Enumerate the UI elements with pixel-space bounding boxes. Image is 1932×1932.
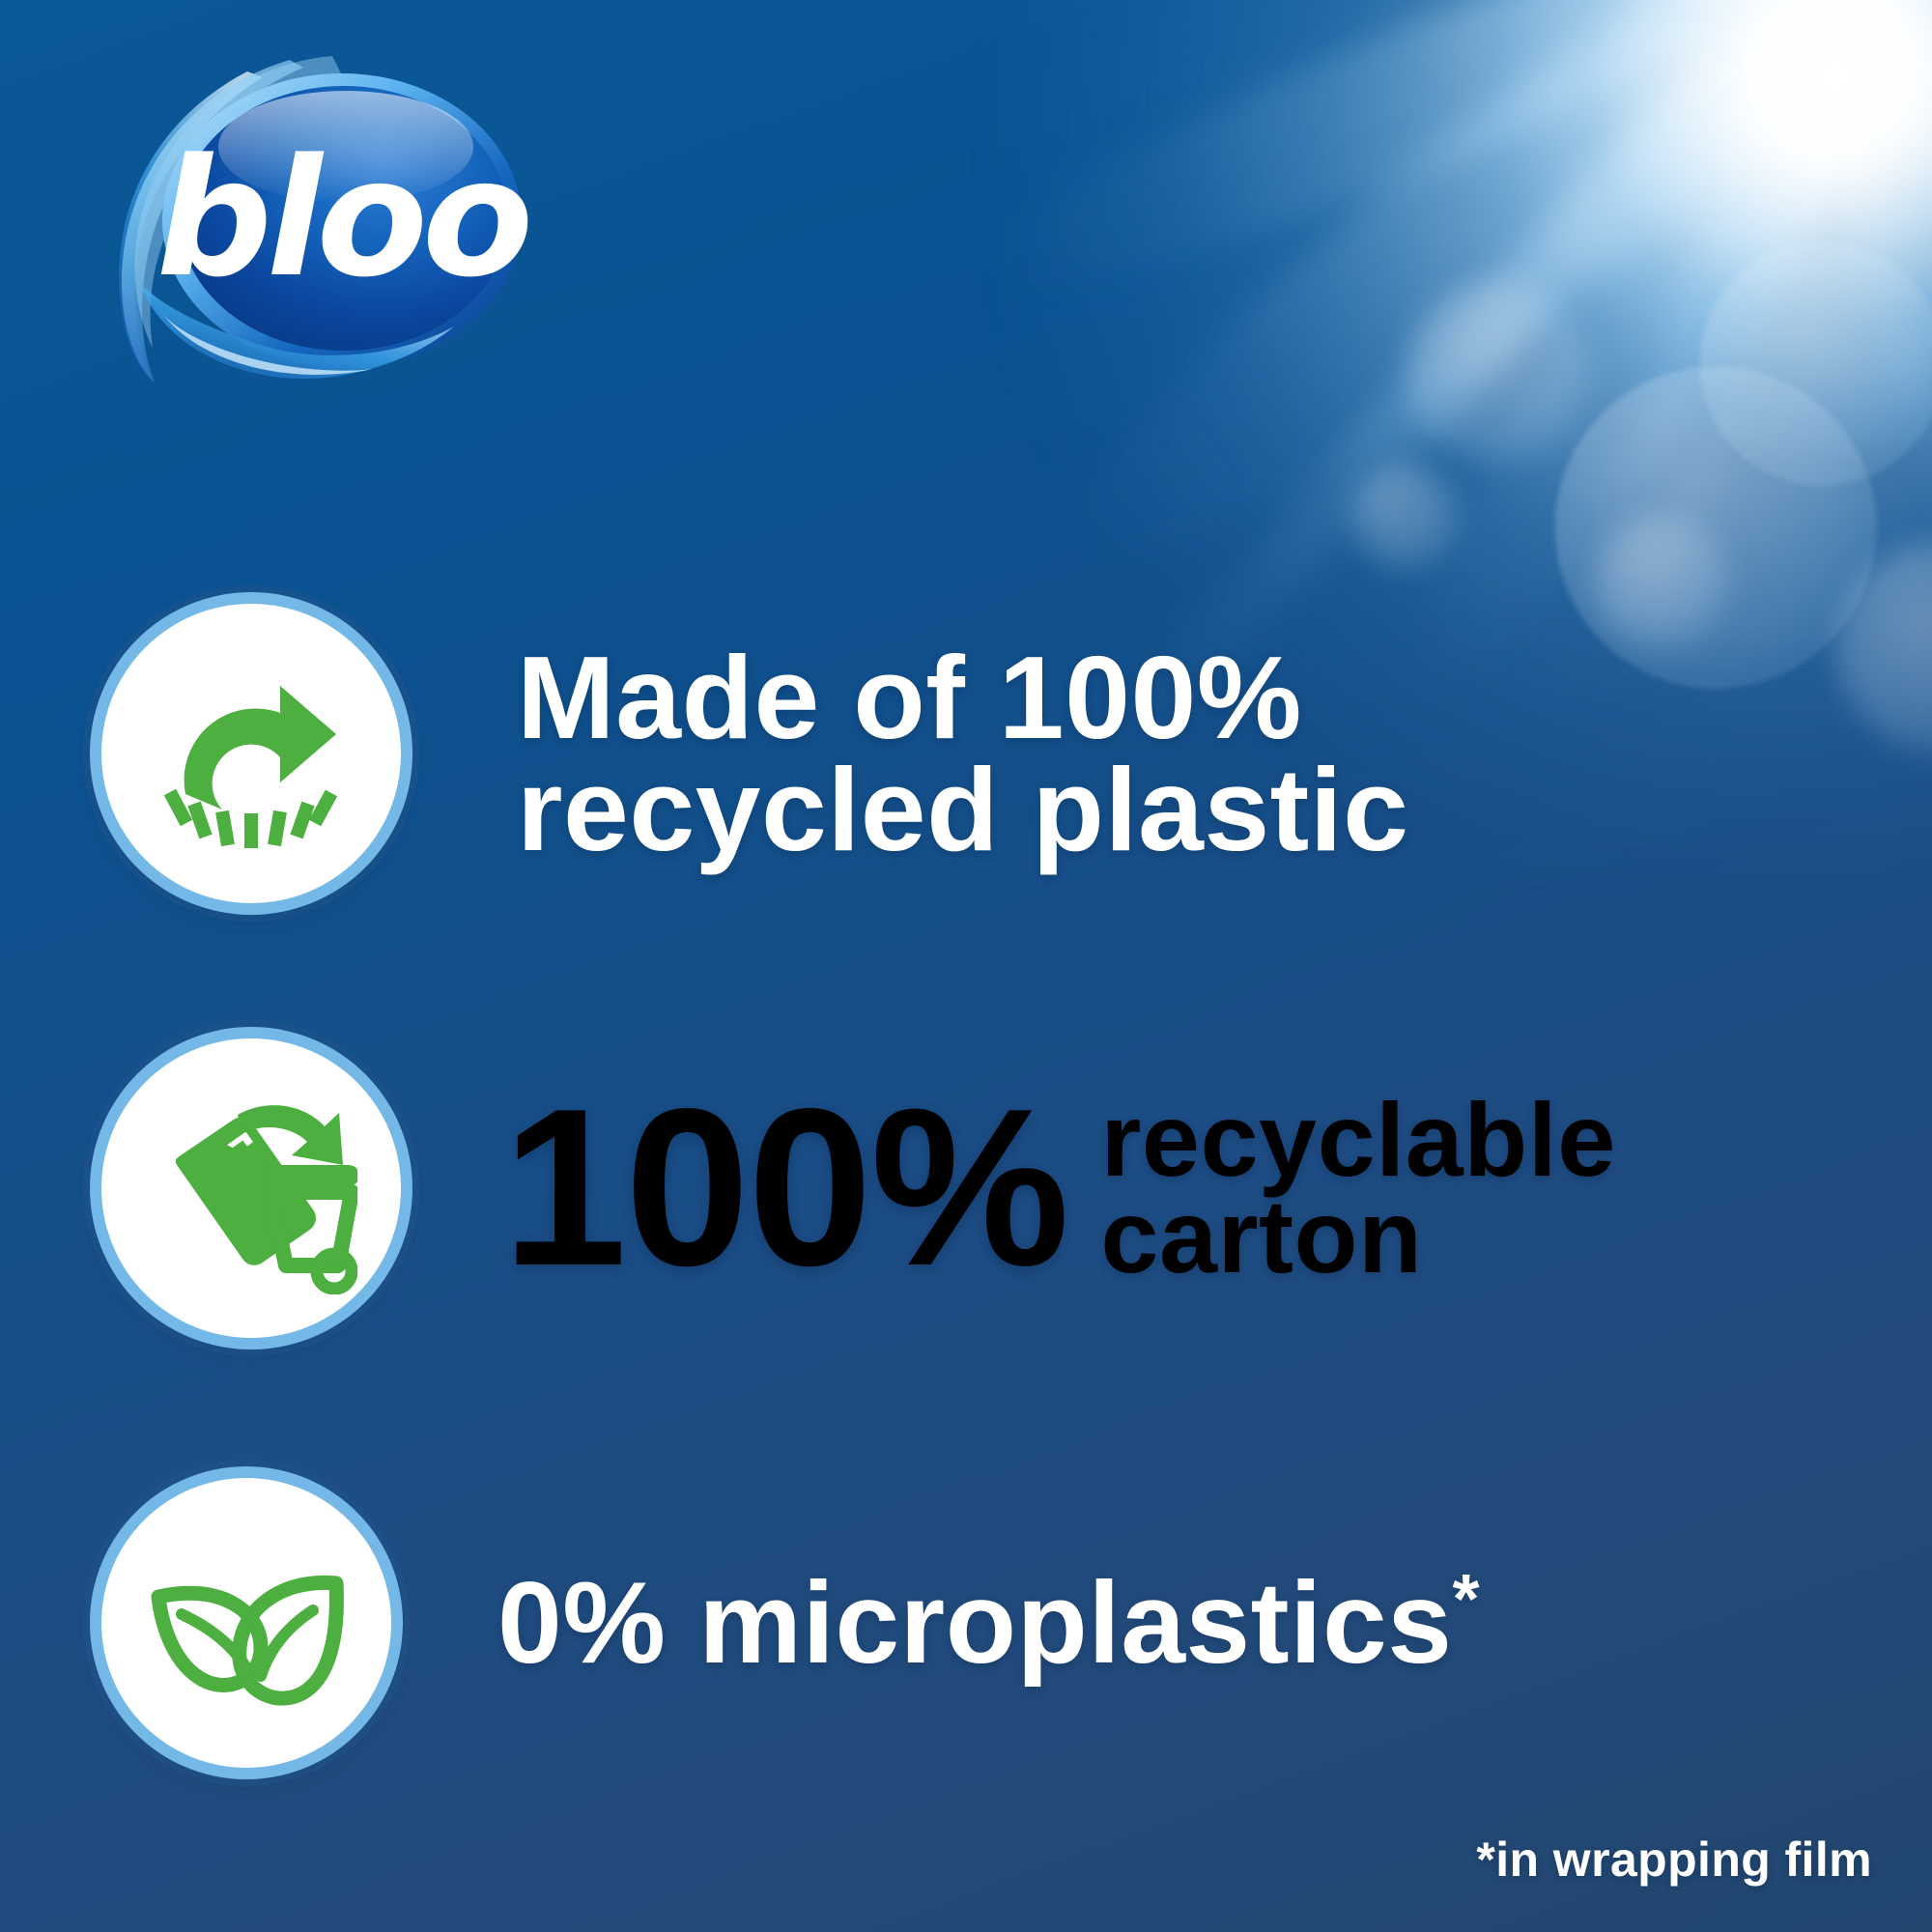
claim-line: Made of 100%: [517, 641, 1409, 753]
claim-row-microplastics: 0% microplastics*: [101, 1478, 1480, 1768]
claim-line: 0% microplastics*: [497, 1569, 1480, 1677]
claim-text-recyclable-carton: 100% recyclable carton: [502, 1092, 1616, 1285]
recycling-arrow-icon: [147, 649, 355, 858]
badge-circle: [101, 604, 401, 903]
carton-into-bin-icon: [145, 1082, 357, 1294]
claim-line: recycled plastic: [517, 753, 1409, 866]
claim-row-recyclable-carton: 100% recyclable carton: [101, 1038, 1616, 1338]
footnote-text: *in wrapping film: [1476, 1832, 1872, 1888]
footnote-asterisk: *: [1452, 1561, 1480, 1638]
claim-text-recycled-plastic: Made of 100% recycled plastic: [517, 641, 1409, 866]
claim-line: recyclable: [1100, 1092, 1615, 1188]
two-leaves-icon: [143, 1520, 350, 1726]
claim-row-recycled-plastic: Made of 100% recycled plastic: [101, 604, 1409, 903]
badge-circle: [101, 1478, 391, 1768]
claims-list: Made of 100% recycled plastic: [0, 0, 1932, 1932]
claim-text-microplastics: 0% microplastics*: [497, 1569, 1480, 1677]
claim-line-text: 0% microplastics: [497, 1558, 1452, 1688]
claim-emphasis-100: 100%: [502, 1092, 1067, 1285]
promo-banner: bloo: [0, 0, 1932, 1932]
badge-circle: [101, 1038, 401, 1338]
claim-text-lines: recyclable carton: [1100, 1092, 1615, 1285]
claim-line: carton: [1100, 1188, 1615, 1285]
